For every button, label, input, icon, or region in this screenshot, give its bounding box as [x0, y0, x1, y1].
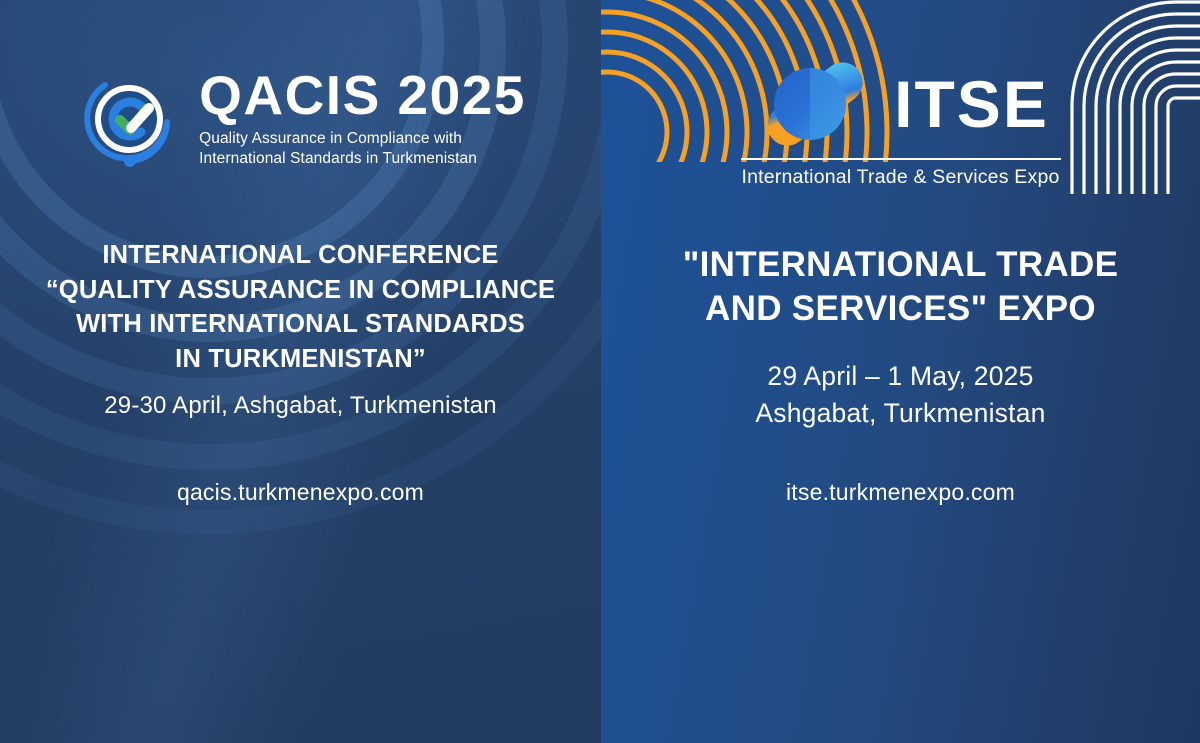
itse-divider-rule: [741, 158, 1061, 160]
qacis-subtitle-line-1: Quality Assurance in Compliance with: [199, 129, 526, 149]
qacis-headline-line-1: INTERNATIONAL CONFERENCE: [18, 238, 583, 273]
itse-headline: "INTERNATIONAL TRADE AND SERVICES" EXPO: [601, 243, 1200, 332]
itse-capsule-circle-icon: [752, 58, 878, 150]
itse-logo-row: ITSE: [752, 58, 1049, 150]
itse-dateline-line-2: Ashgabat, Turkmenistan: [601, 395, 1200, 432]
itse-logo-lockup: ITSE International Trade & Services Expo: [601, 58, 1200, 189]
itse-dateline: 29 April – 1 May, 2025 Ashgabat, Turkmen…: [601, 358, 1200, 431]
itse-dateline-line-1: 29 April – 1 May, 2025: [601, 358, 1200, 395]
qacis-dateline: 29-30 April, Ashgabat, Turkmenistan: [0, 392, 601, 420]
itse-url-link[interactable]: itse.turkmenexpo.com: [601, 479, 1200, 506]
qacis-logo-lockup: QACIS 2025 Quality Assurance in Complian…: [0, 62, 601, 174]
qacis-check-circle-icon: [75, 62, 183, 174]
itse-headline-line-1: "INTERNATIONAL TRADE: [601, 243, 1200, 287]
qacis-headline-line-3: WITH INTERNATIONAL STANDARDS: [18, 307, 583, 342]
qacis-headline-line-4: IN TURKMENISTAN”: [18, 342, 583, 377]
itse-subtitle: International Trade & Services Expo: [741, 166, 1059, 189]
itse-title: ITSE: [894, 73, 1049, 135]
qacis-title: QACIS 2025: [199, 68, 526, 123]
itse-panel: ITSE International Trade & Services Expo…: [601, 0, 1200, 743]
banner-root: QACIS 2025 Quality Assurance in Complian…: [0, 0, 1200, 743]
qacis-wordmark: QACIS 2025 Quality Assurance in Complian…: [199, 68, 526, 169]
qacis-headline: INTERNATIONAL CONFERENCE “QUALITY ASSURA…: [0, 238, 601, 377]
qacis-url-link[interactable]: qacis.turkmenexpo.com: [0, 479, 601, 506]
qacis-headline-line-2: “QUALITY ASSURANCE IN COMPLIANCE: [18, 273, 583, 308]
qacis-panel: QACIS 2025 Quality Assurance in Complian…: [0, 0, 601, 743]
qacis-subtitle-line-2: International Standards in Turkmenistan: [199, 149, 526, 169]
itse-headline-line-2: AND SERVICES" EXPO: [601, 287, 1200, 331]
